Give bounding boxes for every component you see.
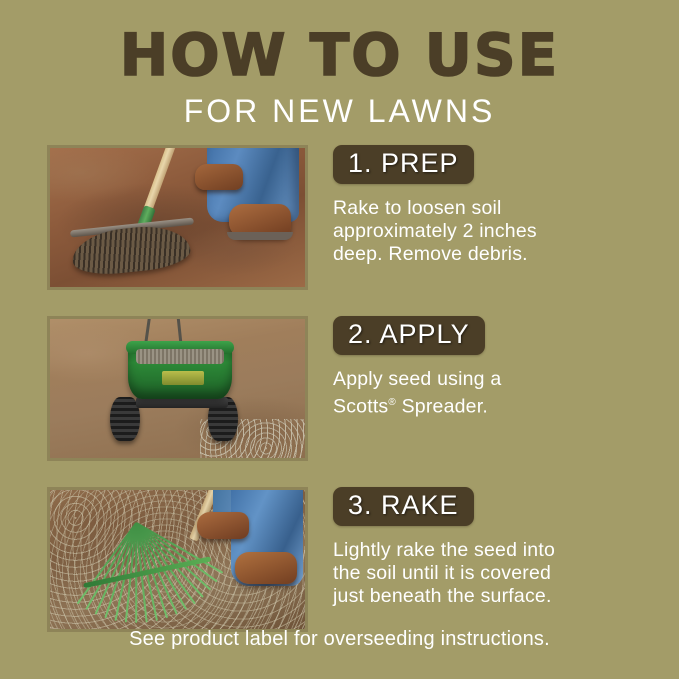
step-text-prep: 1. PREP Rake to loosen soil approximatel… <box>333 145 663 266</box>
step-badge-rake: 3. RAKE <box>333 487 474 526</box>
step-description-prep: Rake to loosen soil approximately 2 inch… <box>333 197 663 266</box>
step-row-prep: 1. PREP Rake to loosen soil approximatel… <box>0 145 679 303</box>
step-description-apply: Apply seed using aScotts® Spreader. <box>333 368 663 419</box>
brand-name: Scotts <box>333 396 388 418</box>
infographic-page: HOW TO USE FOR NEW LAWNS 1. P <box>0 0 679 679</box>
step-text-apply: 2. APPLY Apply seed using aScotts® Sprea… <box>333 316 663 419</box>
page-subtitle: FOR NEW LAWNS <box>0 94 679 128</box>
apply-line-1: Apply seed using a <box>333 368 501 390</box>
step-badge-prep: 1. PREP <box>333 145 474 184</box>
step-badge-apply: 2. APPLY <box>333 316 485 355</box>
boot-front <box>235 552 297 584</box>
step-text-rake: 3. RAKE Lightly rake the seed into the s… <box>333 487 663 608</box>
step-photo-prep <box>47 145 308 290</box>
boot-back <box>197 512 249 539</box>
header: HOW TO USE FOR NEW LAWNS <box>0 0 679 128</box>
soil-background <box>50 148 305 287</box>
step-row-rake: 3. RAKE Lightly rake the seed into the s… <box>0 487 679 645</box>
step-photo-apply <box>47 316 308 461</box>
soil-background <box>50 319 305 458</box>
seed-in-hopper <box>136 349 224 364</box>
soil-background <box>50 490 305 629</box>
apply-line-2-suffix: Spreader. <box>396 396 488 418</box>
step-photo-rake <box>47 487 308 632</box>
registered-mark-icon: ® <box>388 397 396 408</box>
step-description-rake: Lightly rake the seed into the soil unti… <box>333 539 663 608</box>
spreader-brand-label <box>162 371 204 385</box>
step-row-apply: 2. APPLY Apply seed using aScotts® Sprea… <box>0 316 679 474</box>
page-title: HOW TO USE <box>0 26 679 84</box>
boot-back <box>195 164 243 190</box>
steps-list: 1. PREP Rake to loosen soil approximatel… <box>0 145 679 658</box>
boot-sole <box>227 232 293 240</box>
footer-note: See product label for overseeding instru… <box>0 627 679 651</box>
